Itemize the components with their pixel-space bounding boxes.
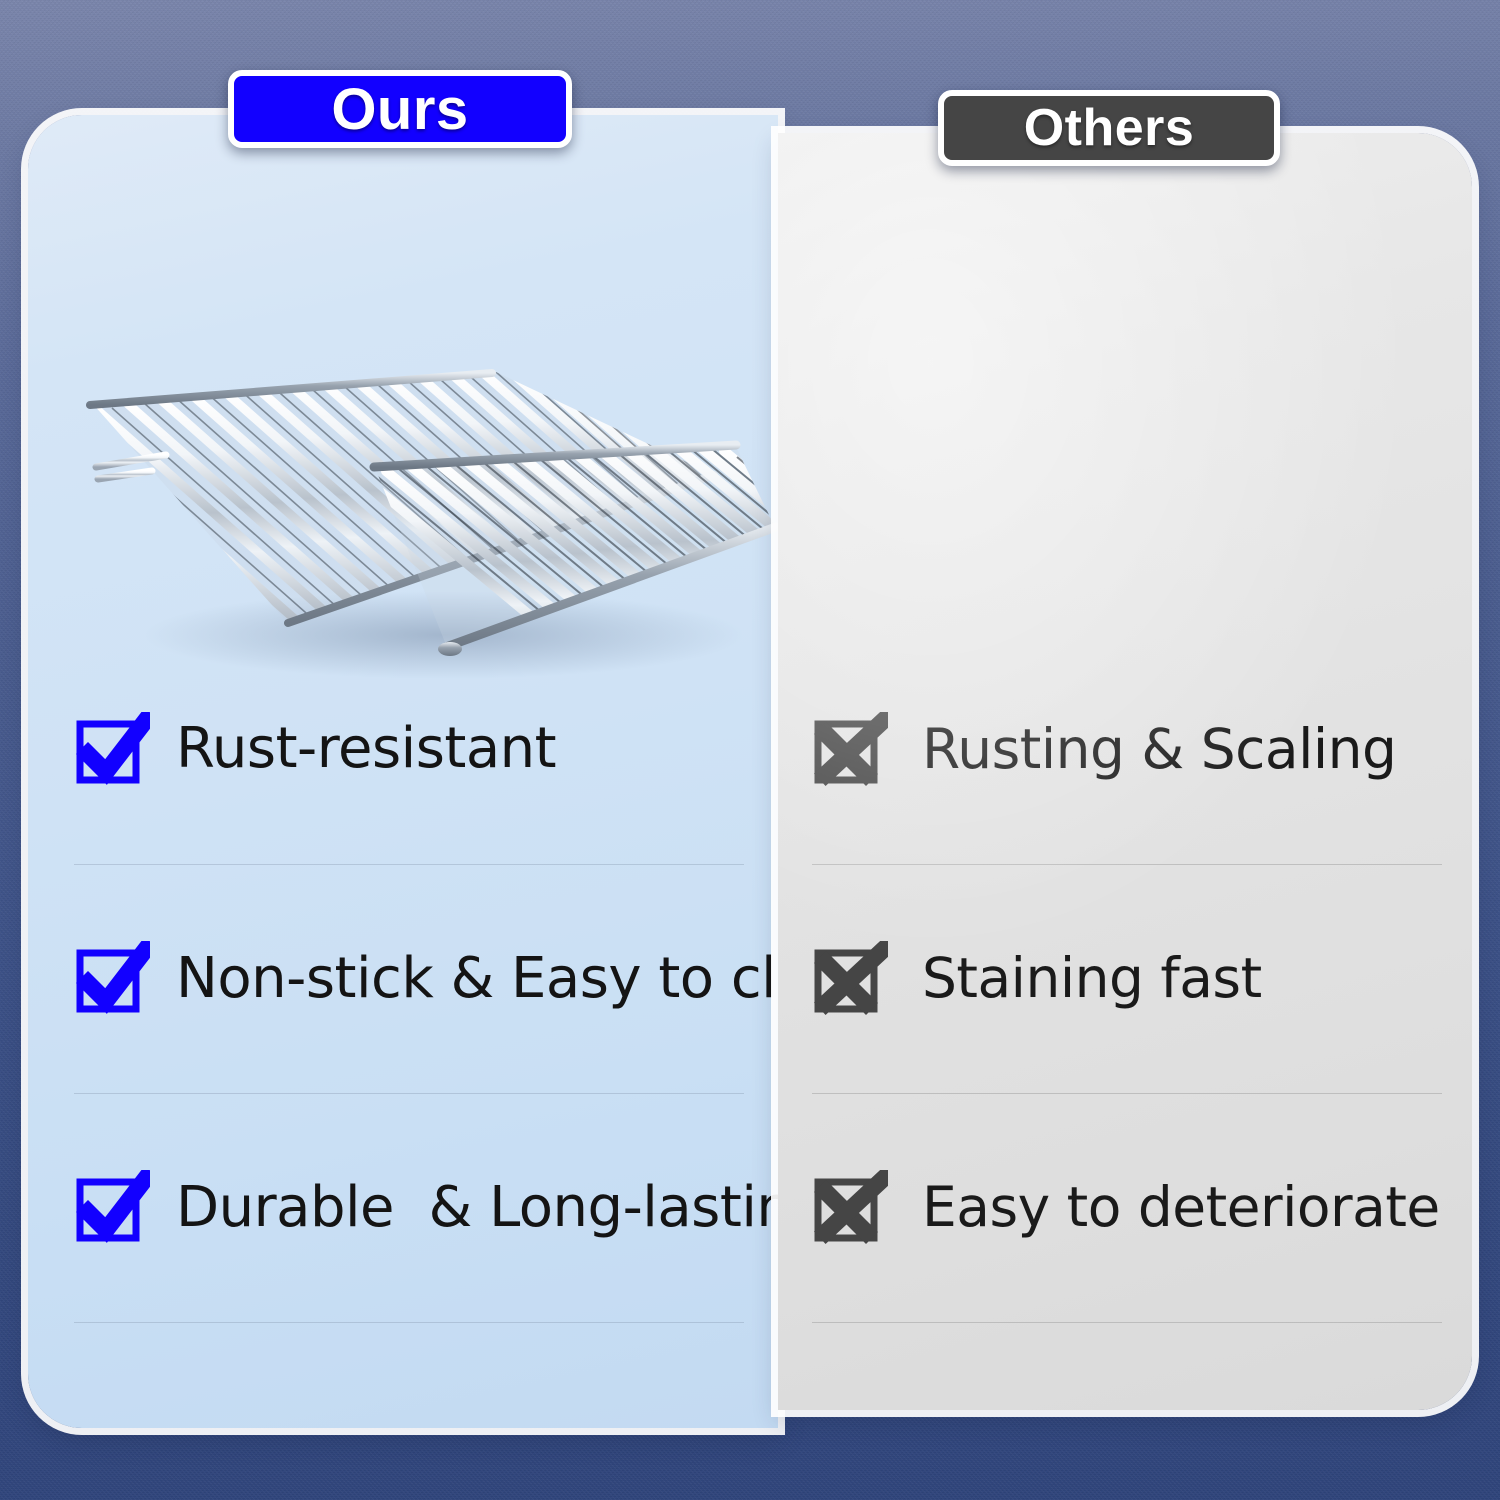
- list-item: Staining fast: [812, 864, 1442, 1093]
- checkbox-checked-icon: [74, 712, 150, 788]
- list-divider: [74, 1322, 744, 1428]
- list-item-label: Durable & Long-lasting: [176, 1179, 778, 1238]
- list-divider: [812, 1322, 1442, 1410]
- others-feature-list: Rusting & Scaling Staining fast: [778, 635, 1472, 1410]
- others-panel: Rusting & Scaling Staining fast: [778, 133, 1472, 1410]
- checkbox-checked-icon: [74, 1170, 150, 1246]
- checkbox-crossed-icon: [812, 941, 888, 1017]
- list-item-label: Rust-resistant: [176, 720, 556, 779]
- list-item: Easy to deteriorate: [812, 1093, 1442, 1322]
- list-item: Non-stick & Easy to clean: [74, 864, 744, 1093]
- list-item: Rusting & Scaling: [812, 635, 1442, 864]
- ours-badge: Ours: [228, 70, 572, 148]
- list-item-label: Non-stick & Easy to clean: [176, 950, 778, 1009]
- others-badge: Others: [938, 90, 1280, 166]
- checkbox-checked-icon: [74, 941, 150, 1017]
- list-item: Durable & Long-lasting: [74, 1093, 744, 1322]
- checkbox-crossed-icon: [812, 712, 888, 788]
- comparison-infographic: Rust-resistant Non-stick & Easy to clean: [0, 0, 1500, 1500]
- list-item-label: Easy to deteriorate: [922, 1179, 1440, 1237]
- checkbox-crossed-icon: [812, 1170, 888, 1246]
- ours-feature-list: Rust-resistant Non-stick & Easy to clean: [28, 635, 778, 1428]
- list-item-label: Rusting & Scaling: [922, 721, 1396, 779]
- ours-panel: Rust-resistant Non-stick & Easy to clean: [28, 115, 778, 1428]
- list-item-label: Staining fast: [922, 950, 1262, 1008]
- list-item: Rust-resistant: [74, 635, 744, 864]
